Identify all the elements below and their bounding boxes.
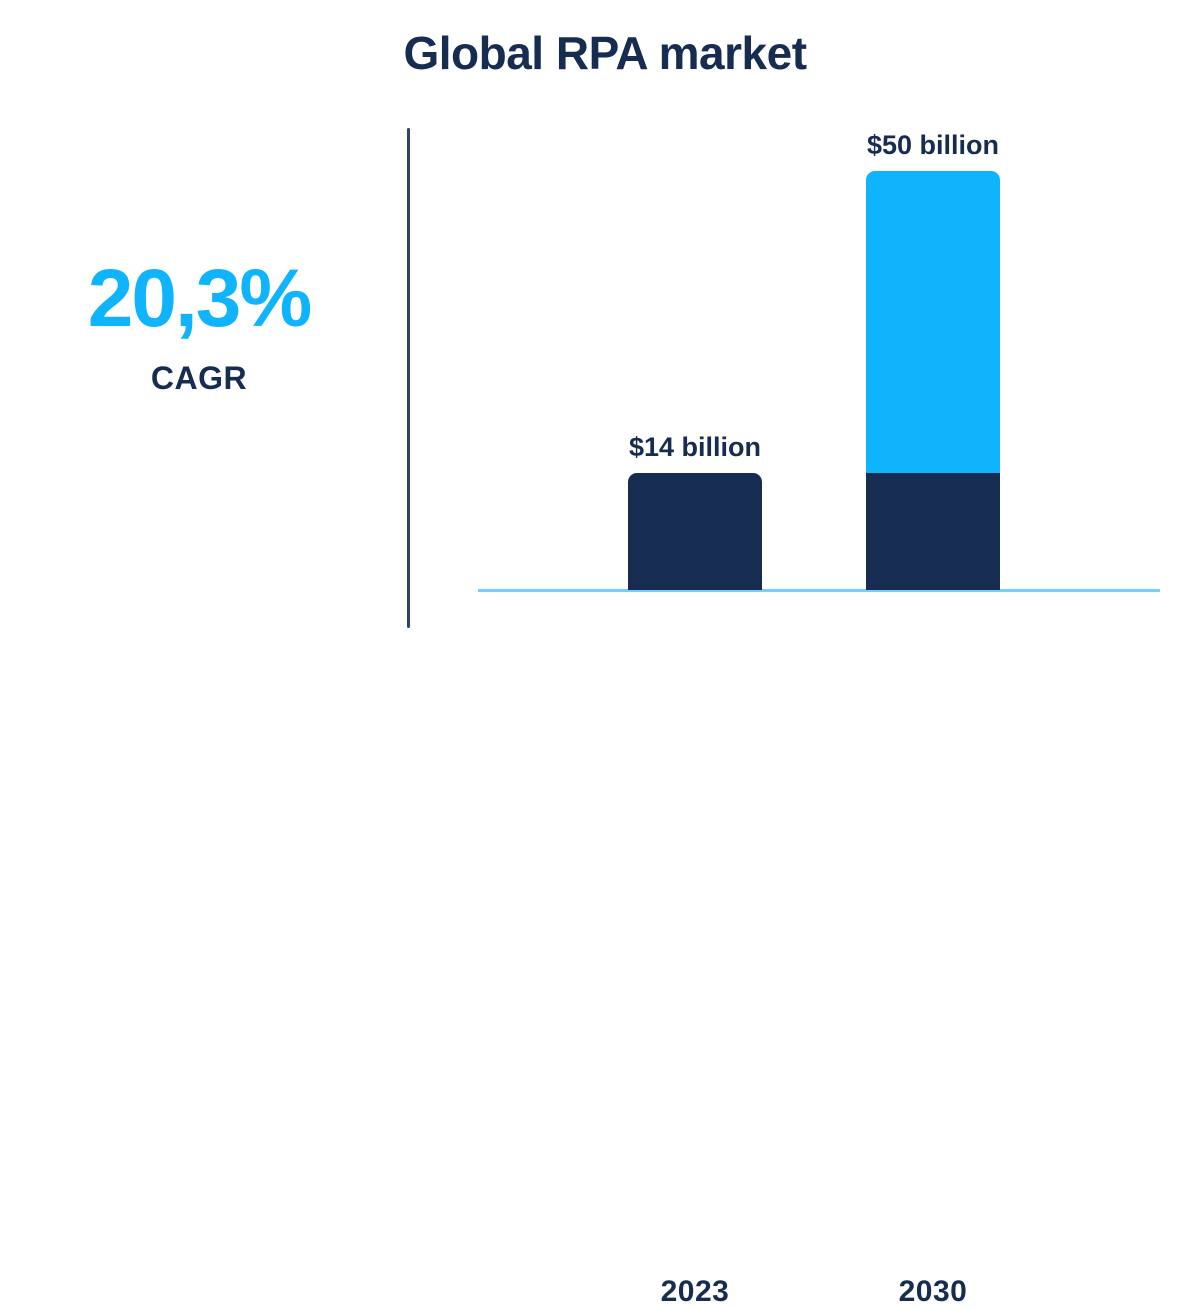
bar-2023[interactable] — [628, 473, 762, 590]
bar-segment-growth-2030 — [866, 171, 1000, 473]
bar-segment-base-2030 — [866, 473, 1000, 590]
bar-segment-base-2023 — [628, 473, 762, 590]
bar-2030[interactable] — [866, 171, 1000, 590]
axis-baseline — [478, 589, 1160, 592]
bar-category-label-2023: 2023 — [578, 1275, 812, 1309]
bar-value-label-2023: $14 billion — [558, 432, 832, 463]
bar-chart: $14 billion 2023 $50 billion 2030 — [0, 0, 1200, 675]
bar-value-label-2030: $50 billion — [796, 130, 1070, 161]
infographic-canvas: Global RPA market 20,3% CAGR $14 billion… — [0, 0, 1200, 675]
bar-category-label-2030: 2030 — [816, 1275, 1050, 1309]
